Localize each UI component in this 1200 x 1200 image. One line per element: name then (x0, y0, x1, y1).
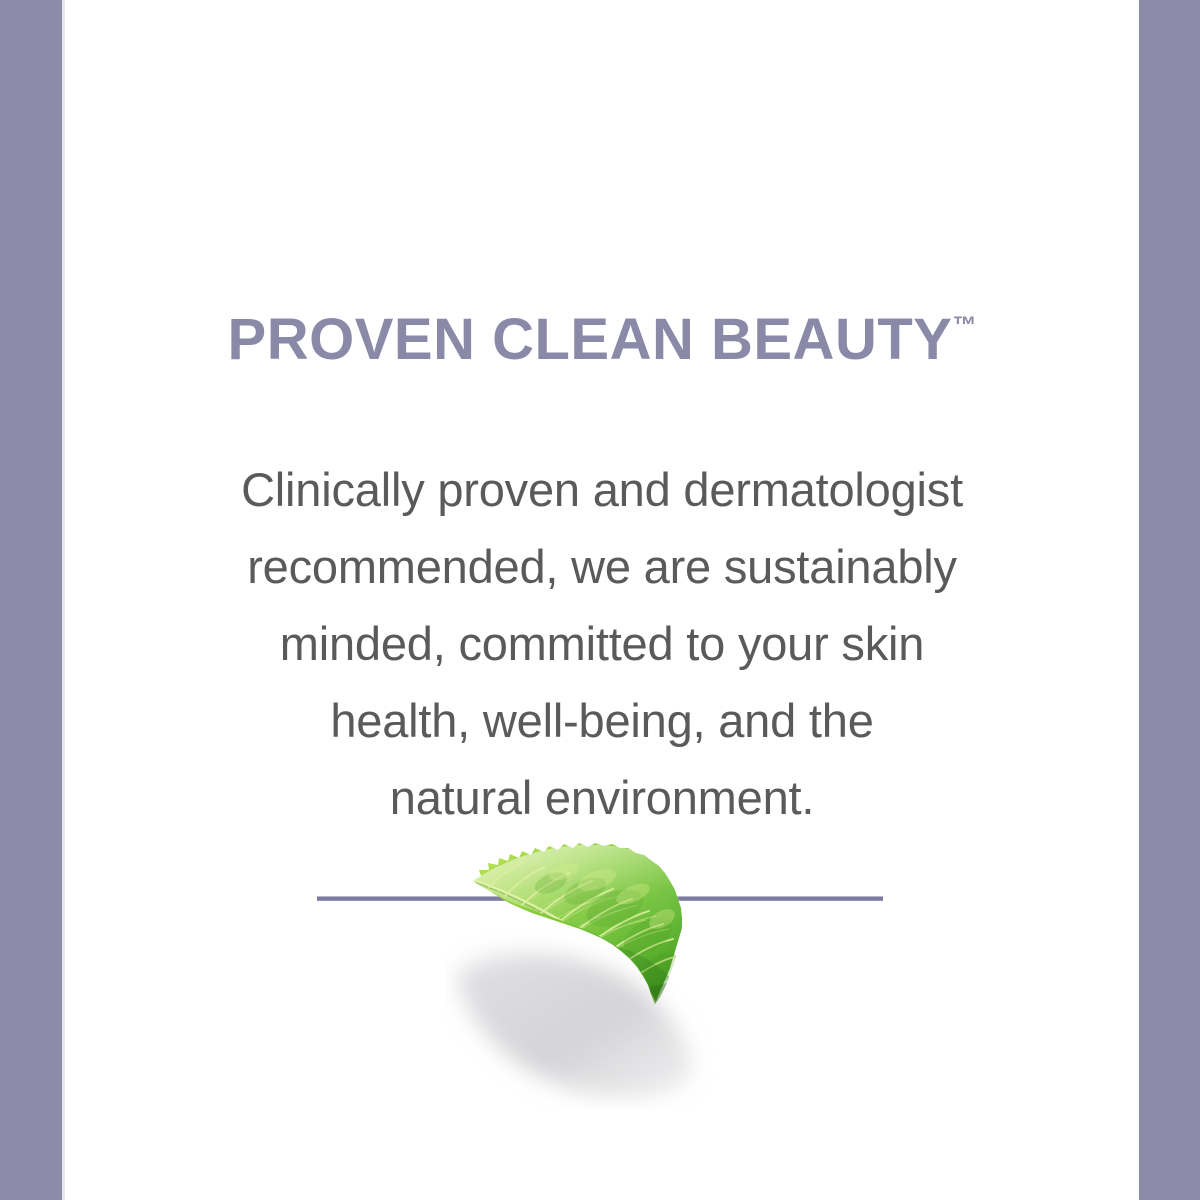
trademark-symbol: ™ (952, 312, 976, 339)
promo-card: PROVEN CLEAN BEAUTY™ Clinically proven a… (0, 0, 1200, 1200)
leaf-divider-ornament (65, 820, 1139, 1120)
body-line: health, well-being, and the (125, 682, 1079, 759)
green-leaf-icon (465, 836, 705, 1006)
body-line: minded, committed to your skin (125, 605, 1079, 682)
right-purple-bar (1139, 0, 1200, 1200)
page-title: PROVEN CLEAN BEAUTY™ (65, 311, 1139, 369)
body-line: Clinically proven and dermatologist (125, 451, 1079, 528)
body-line: recommended, we are sustainably (125, 528, 1079, 605)
content-panel: PROVEN CLEAN BEAUTY™ Clinically proven a… (65, 0, 1139, 1200)
page-title-text: PROVEN CLEAN BEAUTY (228, 307, 953, 372)
left-purple-bar (0, 0, 62, 1200)
body-paragraph: Clinically proven and dermatologist reco… (125, 451, 1079, 836)
